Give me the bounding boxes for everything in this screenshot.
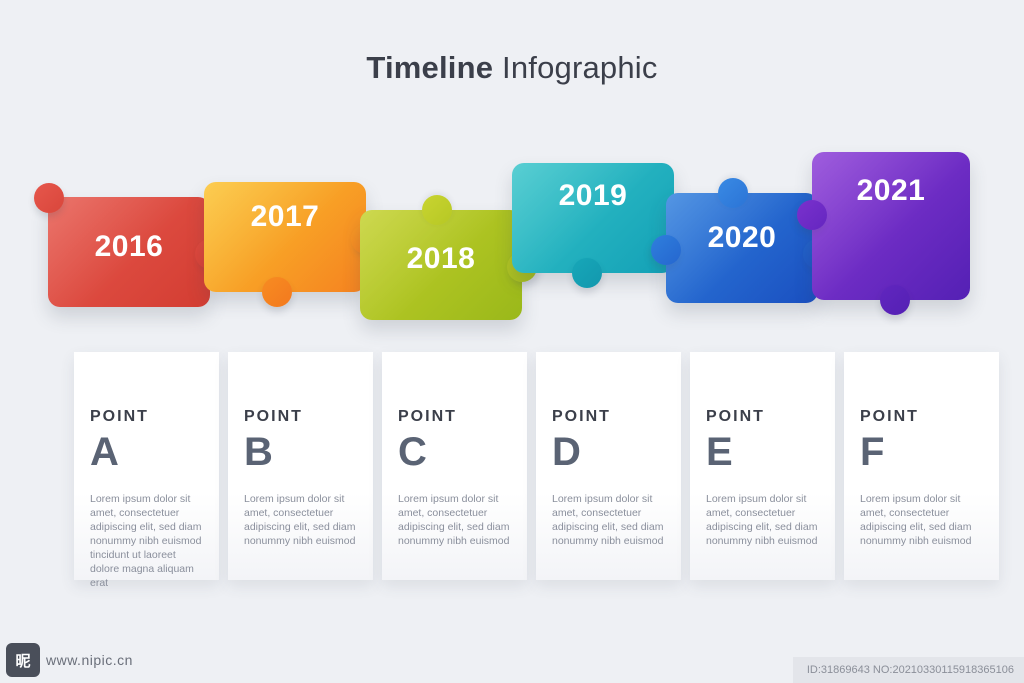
puzzle-year-2021: 2021 — [812, 174, 970, 208]
point-letter-e: E — [690, 430, 851, 475]
point-panel-f[interactable]: POINT F Lorem ipsum dolor sit amet, cons… — [844, 352, 999, 580]
point-panel-d[interactable]: POINT D Lorem ipsum dolor sit amet, cons… — [536, 352, 681, 580]
image-id-bar: ID:31869643 NO:20210330115918365106 — [793, 657, 1024, 683]
puzzle-knob-top-2018 — [422, 195, 452, 225]
puzzle-piece-2018[interactable]: 2018 — [360, 210, 522, 320]
puzzle-year-2018: 2018 — [360, 242, 522, 276]
puzzle-year-2020: 2020 — [666, 221, 818, 255]
puzzle-knob-bottom-2021 — [880, 285, 910, 315]
point-panel-a[interactable]: POINT A Lorem ipsum dolor sit amet, cons… — [74, 352, 219, 580]
point-label-e: POINT — [690, 408, 851, 426]
piece-sheen — [204, 182, 366, 292]
point-body-c: Lorem ipsum dolor sit amet, consectetuer… — [398, 492, 514, 548]
puzzle-piece-2020[interactable]: 2020 — [666, 193, 818, 303]
point-letter-c: C — [382, 430, 543, 475]
point-panel-b[interactable]: POINT B Lorem ipsum dolor sit amet, cons… — [228, 352, 373, 580]
point-letter-b: B — [228, 430, 389, 475]
puzzle-knob-bottom-2019 — [572, 258, 602, 288]
point-body-b: Lorem ipsum dolor sit amet, consectetuer… — [244, 492, 360, 548]
puzzle-knob-bottom-2017 — [262, 277, 292, 307]
point-letter-d: D — [536, 430, 697, 475]
puzzle-piece-2021[interactable]: 2021 — [812, 152, 970, 300]
footer: 昵 www.nipic.cn ID:31869643 NO:2021033011… — [0, 637, 1024, 683]
point-label-d: POINT — [536, 408, 697, 426]
puzzle-year-2017: 2017 — [204, 200, 366, 234]
point-panel-c[interactable]: POINT C Lorem ipsum dolor sit amet, cons… — [382, 352, 527, 580]
point-body-a: Lorem ipsum dolor sit amet, consectetuer… — [90, 492, 206, 590]
puzzle-year-2016: 2016 — [48, 230, 210, 264]
point-body-d: Lorem ipsum dolor sit amet, consectetuer… — [552, 492, 668, 548]
point-letter-f: F — [844, 430, 1015, 475]
watermark-logo: 昵 www.nipic.cn — [6, 643, 133, 677]
point-label-b: POINT — [228, 408, 389, 426]
point-letter-a: A — [74, 430, 235, 475]
puzzle-year-2019: 2019 — [512, 179, 674, 213]
point-body-f: Lorem ipsum dolor sit amet, consectetuer… — [860, 492, 976, 548]
point-panels: POINT A Lorem ipsum dolor sit amet, cons… — [0, 352, 1024, 592]
puzzle-knob-top-2020 — [718, 178, 748, 208]
puzzle-piece-2016[interactable]: 2016 — [48, 197, 210, 307]
point-body-e: Lorem ipsum dolor sit amet, consectetuer… — [706, 492, 822, 548]
logo-mark-icon: 昵 — [6, 643, 40, 677]
puzzle-piece-2017[interactable]: 2017 — [204, 182, 366, 292]
puzzle-knob-right — [34, 183, 64, 213]
point-label-a: POINT — [74, 408, 235, 426]
point-label-f: POINT — [844, 408, 1015, 426]
puzzle-piece-2019[interactable]: 2019 — [512, 163, 674, 273]
logo-url-text: www.nipic.cn — [46, 652, 133, 668]
point-label-c: POINT — [382, 408, 543, 426]
point-panel-e[interactable]: POINT E Lorem ipsum dolor sit amet, cons… — [690, 352, 835, 580]
puzzle-timeline: 2016 2017 2018 2019 2020 2021 — [0, 0, 1024, 360]
